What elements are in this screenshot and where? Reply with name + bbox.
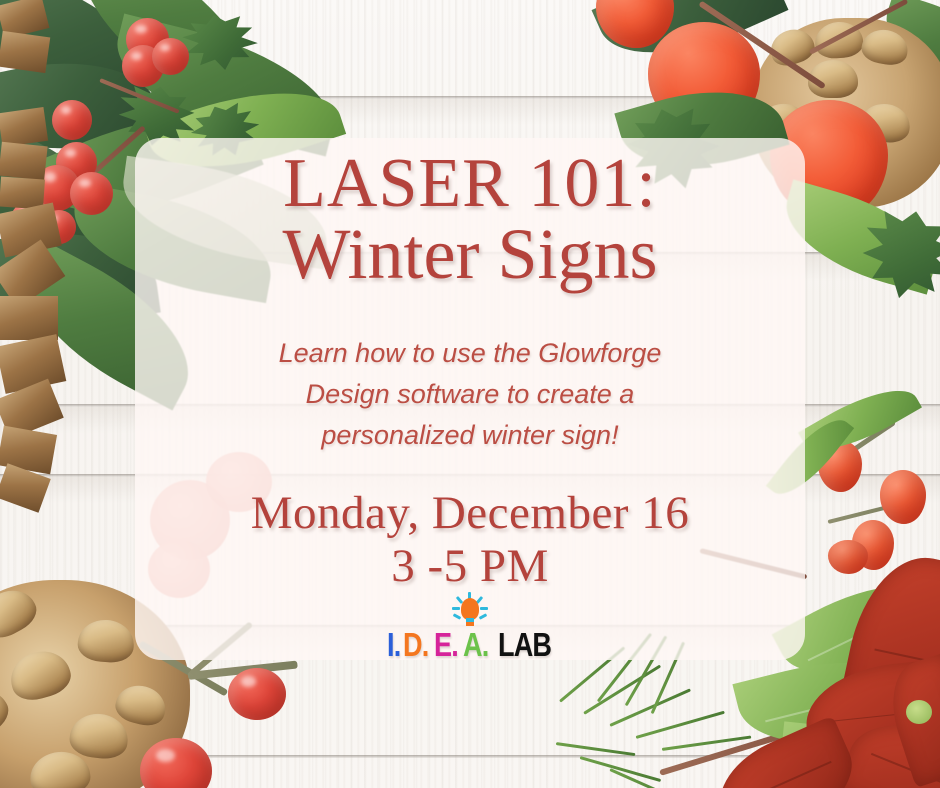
logo-letter-a: A. [463, 626, 488, 664]
title-line-1: LASER 101: [135, 150, 805, 219]
description-line-1: Learn how to use the Glowforge [175, 333, 765, 374]
idea-lab-logo: I.D.E.A.LAB [385, 592, 565, 668]
event-date: Monday, December 16 [155, 487, 785, 540]
title-line-2: Winter Signs [135, 219, 805, 290]
page-title: LASER 101: Winter Signs [135, 150, 805, 289]
description-line-2: Design software to create a [175, 374, 765, 415]
lightbulb-icon [457, 596, 483, 626]
logo-word-lab: LAB [498, 626, 551, 664]
description-line-3: personalized winter sign! [175, 415, 765, 456]
logo-letter-i: I. [387, 626, 400, 664]
poinsettia-center [906, 700, 932, 724]
poster-canvas: LASER 101: Winter Signs Learn how to use… [0, 0, 940, 788]
logo-letter-e: E. [434, 626, 458, 664]
logo-letter-d: D. [403, 626, 428, 664]
event-time: 3 -5 PM [155, 540, 785, 593]
event-datetime: Monday, December 16 3 -5 PM [155, 487, 785, 592]
event-description: Learn how to use the Glowforge Design so… [175, 333, 765, 456]
idea-lab-wordmark: I.D.E.A.LAB [385, 626, 565, 664]
